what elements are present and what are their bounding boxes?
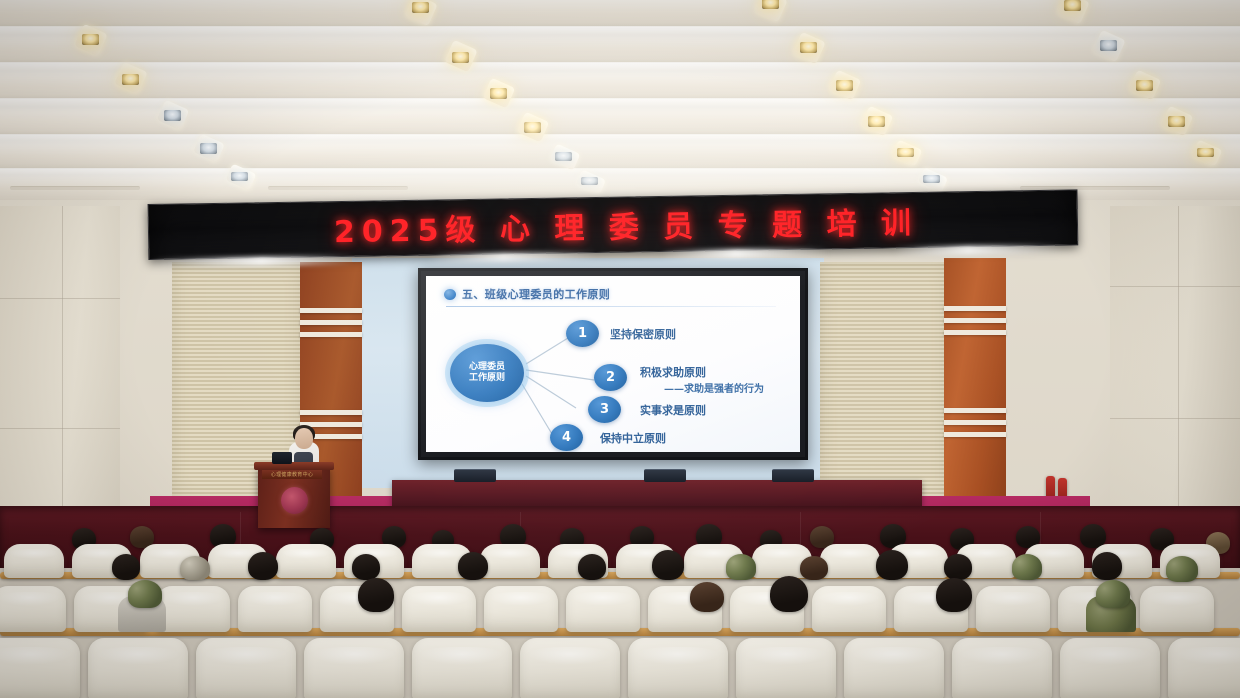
audience-head [358, 578, 394, 612]
seat [480, 544, 540, 578]
seat [412, 638, 512, 698]
podium-top [254, 462, 334, 470]
diagram-node-2: 2 [594, 364, 627, 391]
seat [976, 586, 1050, 632]
seat [952, 638, 1052, 698]
hub-line-1: 心理委员 [469, 362, 505, 373]
audience-head [248, 552, 278, 580]
wall-acoustic-panel-left [0, 206, 120, 546]
audience-head [352, 554, 380, 580]
wall-wood-panel-right [944, 258, 1006, 504]
node-number-2: 2 [606, 370, 615, 385]
diagram-hub: 心理委员 工作原则 [450, 344, 524, 402]
seat [1140, 586, 1214, 632]
node-sublabel-2: ——求助是强者的行为 [664, 380, 764, 395]
ceiling [0, 0, 1240, 210]
audience-cap [180, 556, 210, 580]
speaker-head [295, 428, 313, 449]
podium-microphone-icon [272, 452, 292, 464]
wall-acoustic-panel-right [1110, 206, 1240, 546]
audience-head [770, 576, 808, 612]
seat [520, 638, 620, 698]
seat [238, 586, 312, 632]
table-device [454, 469, 496, 482]
led-banner-text: 2025级 心 理 委 员 专 题 培 训 [308, 198, 919, 252]
node-label-4: 保持中立原则 [600, 430, 666, 446]
audience-head [690, 582, 724, 612]
node-label-1: 坚持保密原则 [610, 326, 676, 342]
seat [844, 638, 944, 698]
node-number-3: 3 [600, 402, 609, 417]
audience-cap [128, 580, 162, 608]
seat [820, 544, 880, 578]
seat [1060, 638, 1160, 698]
seat [1168, 638, 1240, 698]
university-emblem-icon [281, 487, 308, 514]
seat [4, 544, 64, 578]
node-label-3: 实事求是原则 [640, 402, 706, 418]
diagram-node-3: 3 [588, 396, 621, 423]
seat [566, 586, 640, 632]
node-number-4: 4 [562, 430, 571, 445]
audience-head [936, 578, 972, 612]
seat [484, 586, 558, 632]
audience-area [0, 520, 1240, 698]
presentation-slide: 五、班级心理委员的工作原则 心理委员 工作原则 1 坚持保密原则 [426, 276, 800, 452]
seat [276, 544, 336, 578]
audience-head [112, 554, 140, 580]
audience-cap [1012, 554, 1042, 580]
table-device [772, 469, 814, 482]
audience-head [944, 554, 972, 580]
audience-head [578, 554, 606, 580]
node-label-2: 积极求助原则 [640, 364, 706, 380]
podium-nameplate-text: 心理健康教育中心 [271, 471, 313, 478]
seat [304, 638, 404, 698]
audience-head [876, 550, 908, 580]
node-number-1: 1 [578, 326, 587, 341]
audience-cap [1096, 580, 1130, 608]
diagram-node-1: 1 [566, 320, 599, 347]
projection-screen: 五、班级心理委员的工作原则 心理委员 工作原则 1 坚持保密原则 [418, 268, 808, 460]
wall-slat-panel-right [820, 262, 948, 502]
seat [196, 638, 296, 698]
seat [812, 586, 886, 632]
seat [0, 586, 66, 632]
audience-cap [1166, 556, 1198, 582]
seat [736, 638, 836, 698]
seat [156, 586, 230, 632]
diagram-node-4: 4 [550, 424, 583, 451]
seat [88, 638, 188, 698]
seat [628, 638, 728, 698]
hub-line-2: 工作原则 [469, 373, 505, 384]
table-device [644, 469, 686, 482]
seat [402, 586, 476, 632]
seat [0, 638, 80, 698]
audience-head [1092, 552, 1122, 580]
audience-head [652, 550, 684, 580]
audience-cap [726, 554, 756, 580]
auditorium-photo: 2025级 心 理 委 员 专 题 培 训 五、班级心理委员的工作原则 心理委员… [0, 0, 1240, 698]
audience-head [800, 556, 828, 580]
audience-head [458, 552, 488, 580]
podium-nameplate: 心理健康教育中心 [262, 470, 322, 479]
